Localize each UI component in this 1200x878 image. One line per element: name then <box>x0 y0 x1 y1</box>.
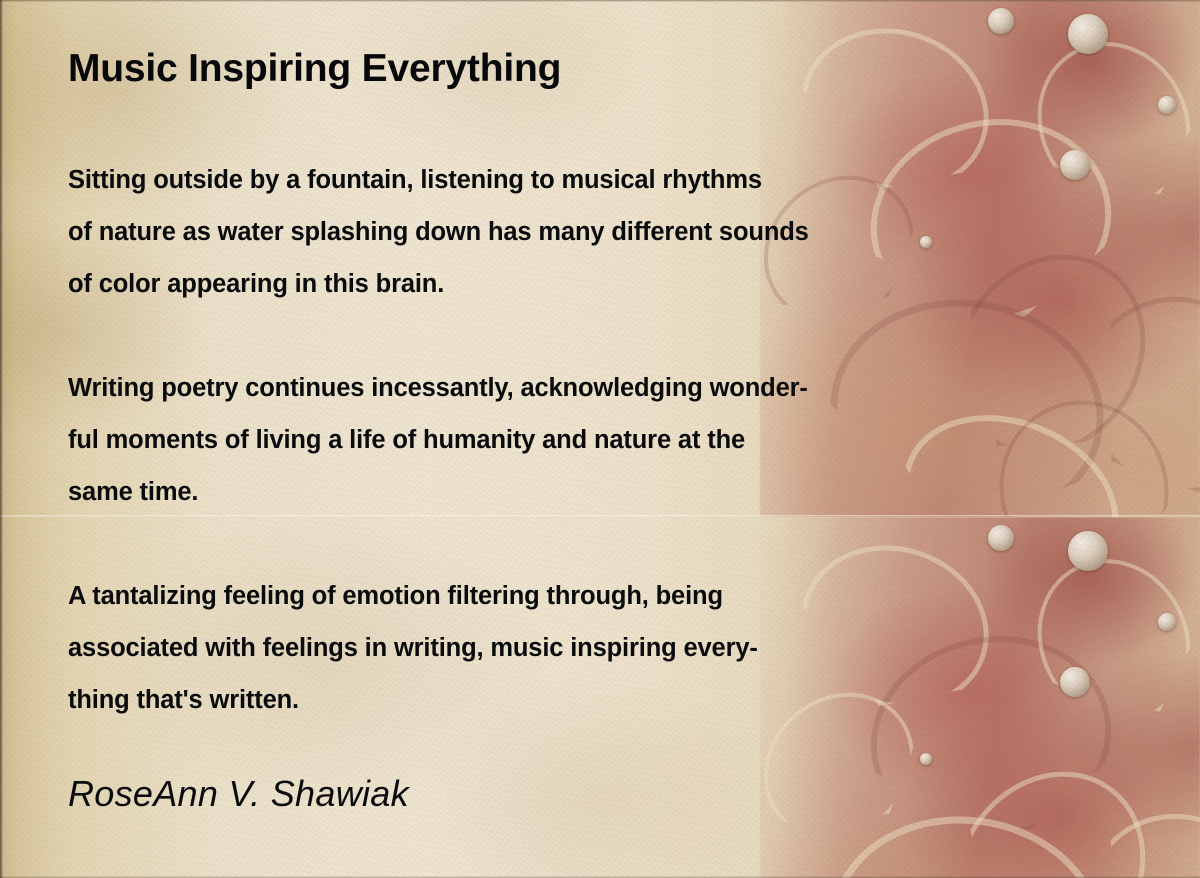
poem-line: of color appearing in this brain. <box>68 258 809 310</box>
poem-stanza-1: Sitting outside by a fountain, listening… <box>68 154 809 310</box>
pearl-bead-icon <box>1158 613 1176 631</box>
poem-line: associated with feelings in writing, mus… <box>68 622 758 674</box>
poem-card: Music Inspiring Everything Sitting outsi… <box>0 0 1200 878</box>
poem-stanza-3: A tantalizing feeling of emotion filteri… <box>68 570 758 726</box>
author-signature: RoseAnn V. Shawiak <box>68 774 409 814</box>
poem-line: same time. <box>68 466 808 518</box>
page-title: Music Inspiring Everything <box>68 48 561 91</box>
border-left <box>0 0 3 878</box>
poem-line: thing that's written. <box>68 674 758 726</box>
poem-line: A tantalizing feeling of emotion filteri… <box>68 570 758 622</box>
poem-line: ful moments of living a life of humanity… <box>68 414 808 466</box>
pearl-bead-icon <box>1158 96 1176 114</box>
poem-stanza-2: Writing poetry continues incessantly, ac… <box>68 362 808 518</box>
poem-content: Music Inspiring Everything Sitting outsi… <box>68 0 1128 878</box>
poem-line: Writing poetry continues incessantly, ac… <box>68 362 808 414</box>
poem-line: of nature as water splashing down has ma… <box>68 206 809 258</box>
poem-line: Sitting outside by a fountain, listening… <box>68 154 809 206</box>
